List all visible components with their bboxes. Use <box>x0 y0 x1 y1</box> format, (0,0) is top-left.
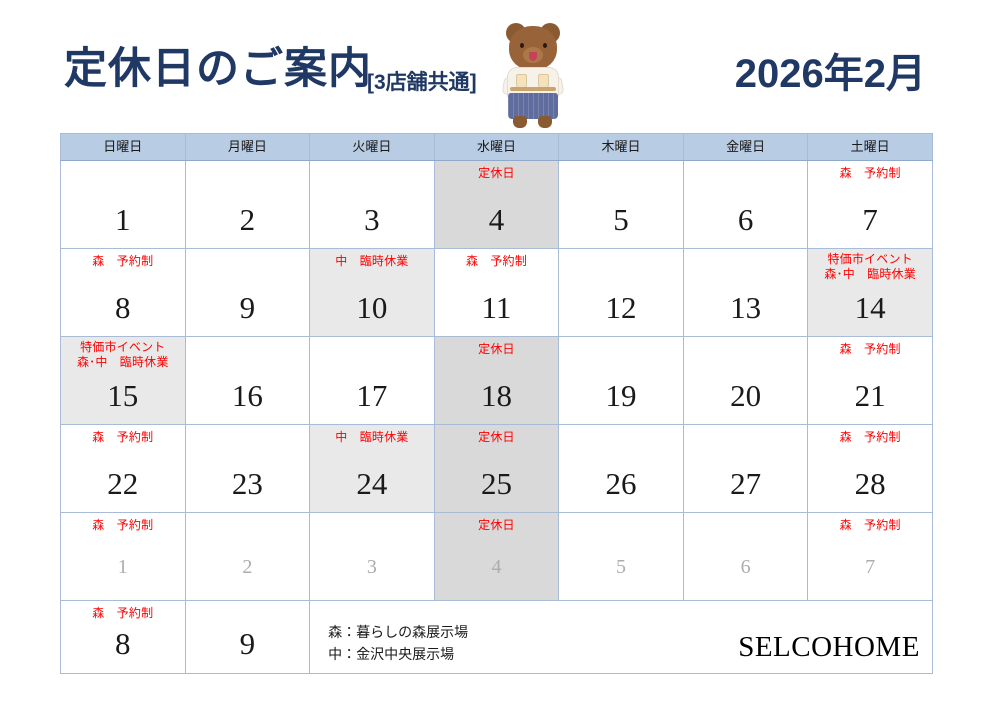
day-note-line: 森 予約制 <box>61 518 185 533</box>
day-number: 9 <box>186 291 310 325</box>
day-note-line: 特価市イベント <box>808 252 932 267</box>
calendar-day-cell[interactable]: 森 予約制28 <box>808 425 933 513</box>
day-number: 6 <box>684 203 808 237</box>
day-note-line: 中 臨時休業 <box>310 254 434 269</box>
day-note: 定休日 <box>435 166 559 181</box>
day-number: 22 <box>61 467 185 501</box>
calendar-day-cell[interactable]: 森 予約制8 <box>61 601 186 674</box>
calendar-day-cell[interactable]: 5 <box>559 513 684 601</box>
day-number: 10 <box>310 291 434 325</box>
day-number: 8 <box>61 291 185 325</box>
calendar-day-cell[interactable]: 定休日18 <box>434 337 559 425</box>
calendar-day-cell[interactable]: 定休日4 <box>434 513 559 601</box>
calendar-day-cell[interactable]: 16 <box>185 337 310 425</box>
day-note-line: 森･中 臨時休業 <box>61 355 185 370</box>
day-note: 特価市イベント森･中 臨時休業 <box>808 252 932 282</box>
legend-cell: 森：暮らしの森展示場中：金沢中央展示場SELCOHOME <box>310 601 933 674</box>
page-header: 定休日のご案内 [3店舗共通] 2026年2月 <box>0 0 992 133</box>
calendar-footer-row: 森 予約制89森：暮らしの森展示場中：金沢中央展示場SELCOHOME <box>61 601 933 674</box>
calendar-day-cell[interactable]: 中 臨時休業24 <box>310 425 435 513</box>
calendar-day-cell[interactable]: 森 予約制22 <box>61 425 186 513</box>
calendar-day-cell[interactable]: 定休日4 <box>434 161 559 249</box>
bear-cup-left-icon <box>516 74 527 88</box>
calendar-day-cell[interactable]: 森 予約制7 <box>808 161 933 249</box>
day-note: 森 予約制 <box>808 430 932 445</box>
weekday-header-2: 火曜日 <box>310 134 435 161</box>
day-number: 24 <box>310 467 434 501</box>
day-note-line: 森 予約制 <box>808 166 932 181</box>
calendar-day-cell[interactable]: 森 予約制7 <box>808 513 933 601</box>
legend-line: 中：金沢中央展示場 <box>328 643 468 665</box>
day-number: 2 <box>186 203 310 237</box>
calendar-day-cell[interactable]: 定休日25 <box>434 425 559 513</box>
day-number: 11 <box>435 291 559 325</box>
calendar-week-row: 123定休日456森 予約制7 <box>61 161 933 249</box>
calendar-day-cell[interactable]: 特価市イベント森･中 臨時休業15 <box>61 337 186 425</box>
bear-mascot-icon <box>496 17 570 129</box>
calendar-day-cell[interactable]: 20 <box>683 337 808 425</box>
day-number: 28 <box>808 467 932 501</box>
day-number: 27 <box>684 467 808 501</box>
day-note-line: 特価市イベント <box>61 340 185 355</box>
bear-cup-right-icon <box>538 74 549 88</box>
calendar-day-cell[interactable]: 2 <box>185 513 310 601</box>
day-note-line: 森 予約制 <box>61 606 185 621</box>
day-number: 7 <box>808 203 932 237</box>
day-number: 5 <box>559 203 683 237</box>
day-number: 20 <box>684 379 808 413</box>
bear-eye-left-icon <box>520 43 524 48</box>
day-note: 定休日 <box>435 342 559 357</box>
calendar-day-cell[interactable]: 27 <box>683 425 808 513</box>
day-note: 森 予約制 <box>61 518 185 533</box>
day-number: 16 <box>186 379 310 413</box>
day-number: 13 <box>684 291 808 325</box>
calendar-day-cell[interactable]: 3 <box>310 161 435 249</box>
weekday-header-0: 日曜日 <box>61 134 186 161</box>
calendar-day-cell[interactable]: 12 <box>559 249 684 337</box>
day-note-line: 森 予約制 <box>808 342 932 357</box>
day-note: 定休日 <box>435 518 559 533</box>
day-note-line: 中 臨時休業 <box>310 430 434 445</box>
day-number: 21 <box>808 379 932 413</box>
weekday-header-4: 木曜日 <box>559 134 684 161</box>
day-note-line: 定休日 <box>435 166 559 181</box>
day-number: 4 <box>435 550 559 584</box>
calendar-day-cell[interactable]: 13 <box>683 249 808 337</box>
calendar-table: 日曜日月曜日火曜日水曜日木曜日金曜日土曜日 123定休日456森 予約制7森 予… <box>60 133 933 674</box>
weekday-header-row: 日曜日月曜日火曜日水曜日木曜日金曜日土曜日 <box>61 134 933 161</box>
day-number: 5 <box>559 550 683 584</box>
calendar-day-cell[interactable]: 3 <box>310 513 435 601</box>
day-number: 18 <box>435 379 559 413</box>
day-number: 25 <box>435 467 559 501</box>
day-number: 7 <box>808 550 932 584</box>
calendar-day-cell[interactable]: 23 <box>185 425 310 513</box>
calendar-day-cell[interactable]: 中 臨時休業10 <box>310 249 435 337</box>
day-note-line: 森 予約制 <box>435 254 559 269</box>
weekday-header-3: 水曜日 <box>434 134 559 161</box>
weekday-header-5: 金曜日 <box>683 134 808 161</box>
day-note-line: 定休日 <box>435 342 559 357</box>
day-number: 12 <box>559 291 683 325</box>
day-note: 中 臨時休業 <box>310 430 434 445</box>
calendar-day-cell[interactable]: 1 <box>61 161 186 249</box>
bear-leg-right-icon <box>538 116 552 128</box>
bear-leg-left-icon <box>513 116 527 128</box>
day-note: 森 予約制 <box>808 166 932 181</box>
weekday-header-1: 月曜日 <box>185 134 310 161</box>
day-number: 2 <box>186 550 310 584</box>
calendar-week-row: 森 予約制123定休日456森 予約制7 <box>61 513 933 601</box>
bear-eye-right-icon <box>543 43 547 48</box>
day-number: 6 <box>684 550 808 584</box>
day-note-line: 定休日 <box>435 430 559 445</box>
day-number: 26 <box>559 467 683 501</box>
day-number: 3 <box>310 550 434 584</box>
day-note-line: 森 予約制 <box>61 430 185 445</box>
day-number: 17 <box>310 379 434 413</box>
calendar-day-cell[interactable]: 19 <box>559 337 684 425</box>
day-note: 森 予約制 <box>808 518 932 533</box>
day-number: 9 <box>186 627 310 661</box>
day-note: 森 予約制 <box>61 254 185 269</box>
page-subtitle: [3店舗共通] <box>367 72 477 93</box>
day-note-line: 森 予約制 <box>808 430 932 445</box>
calendar-day-cell[interactable]: 森 予約制1 <box>61 513 186 601</box>
day-number: 3 <box>310 203 434 237</box>
day-note-line: 森･中 臨時休業 <box>808 267 932 282</box>
day-note: 特価市イベント森･中 臨時休業 <box>61 340 185 370</box>
day-note: 森 予約制 <box>808 342 932 357</box>
day-number: 1 <box>61 203 185 237</box>
day-note-line: 定休日 <box>435 518 559 533</box>
calendar-week-row: 特価市イベント森･中 臨時休業151617定休日181920森 予約制21 <box>61 337 933 425</box>
day-note: 森 予約制 <box>61 606 185 621</box>
day-note-line: 森 予約制 <box>808 518 932 533</box>
day-number: 1 <box>61 550 185 584</box>
day-number: 15 <box>61 379 185 413</box>
day-number: 8 <box>61 627 185 661</box>
month-label: 2026年2月 <box>735 54 926 94</box>
day-number: 14 <box>808 291 932 325</box>
calendar-day-cell[interactable]: 26 <box>559 425 684 513</box>
day-note: 中 臨時休業 <box>310 254 434 269</box>
legend-line: 森：暮らしの森展示場 <box>328 621 468 643</box>
day-note: 森 予約制 <box>61 430 185 445</box>
calendar-day-cell[interactable]: 6 <box>683 513 808 601</box>
calendar-day-cell[interactable]: 2 <box>185 161 310 249</box>
day-note-line: 森 予約制 <box>61 254 185 269</box>
calendar-day-cell[interactable]: 森 予約制11 <box>434 249 559 337</box>
bear-tray-icon <box>510 87 556 91</box>
day-number: 23 <box>186 467 310 501</box>
calendar-day-cell[interactable]: 森 予約制8 <box>61 249 186 337</box>
calendar-day-cell[interactable]: 5 <box>559 161 684 249</box>
calendar-day-cell[interactable]: 6 <box>683 161 808 249</box>
day-number: 19 <box>559 379 683 413</box>
calendar-day-cell[interactable]: 9 <box>185 601 310 674</box>
calendar-day-cell[interactable]: 17 <box>310 337 435 425</box>
day-note: 森 予約制 <box>435 254 559 269</box>
page-title: 定休日のご案内 <box>64 48 372 91</box>
calendar-day-cell[interactable]: 森 予約制21 <box>808 337 933 425</box>
day-note: 定休日 <box>435 430 559 445</box>
calendar-day-cell[interactable]: 9 <box>185 249 310 337</box>
day-number: 4 <box>435 203 559 237</box>
calendar-day-cell[interactable]: 特価市イベント森･中 臨時休業14 <box>808 249 933 337</box>
brand-logo: SELCOHOME <box>738 631 920 664</box>
bear-mouth-icon <box>529 52 537 61</box>
legend-text: 森：暮らしの森展示場中：金沢中央展示場 <box>328 621 468 665</box>
weekday-header-6: 土曜日 <box>808 134 933 161</box>
calendar-container: 日曜日月曜日火曜日水曜日木曜日金曜日土曜日 123定休日456森 予約制7森 予… <box>60 133 932 674</box>
calendar-week-row: 森 予約制89中 臨時休業10森 予約制111213特価市イベント森･中 臨時休… <box>61 249 933 337</box>
calendar-body: 123定休日456森 予約制7森 予約制89中 臨時休業10森 予約制11121… <box>61 161 933 674</box>
calendar-week-row: 森 予約制2223中 臨時休業24定休日252627森 予約制28 <box>61 425 933 513</box>
